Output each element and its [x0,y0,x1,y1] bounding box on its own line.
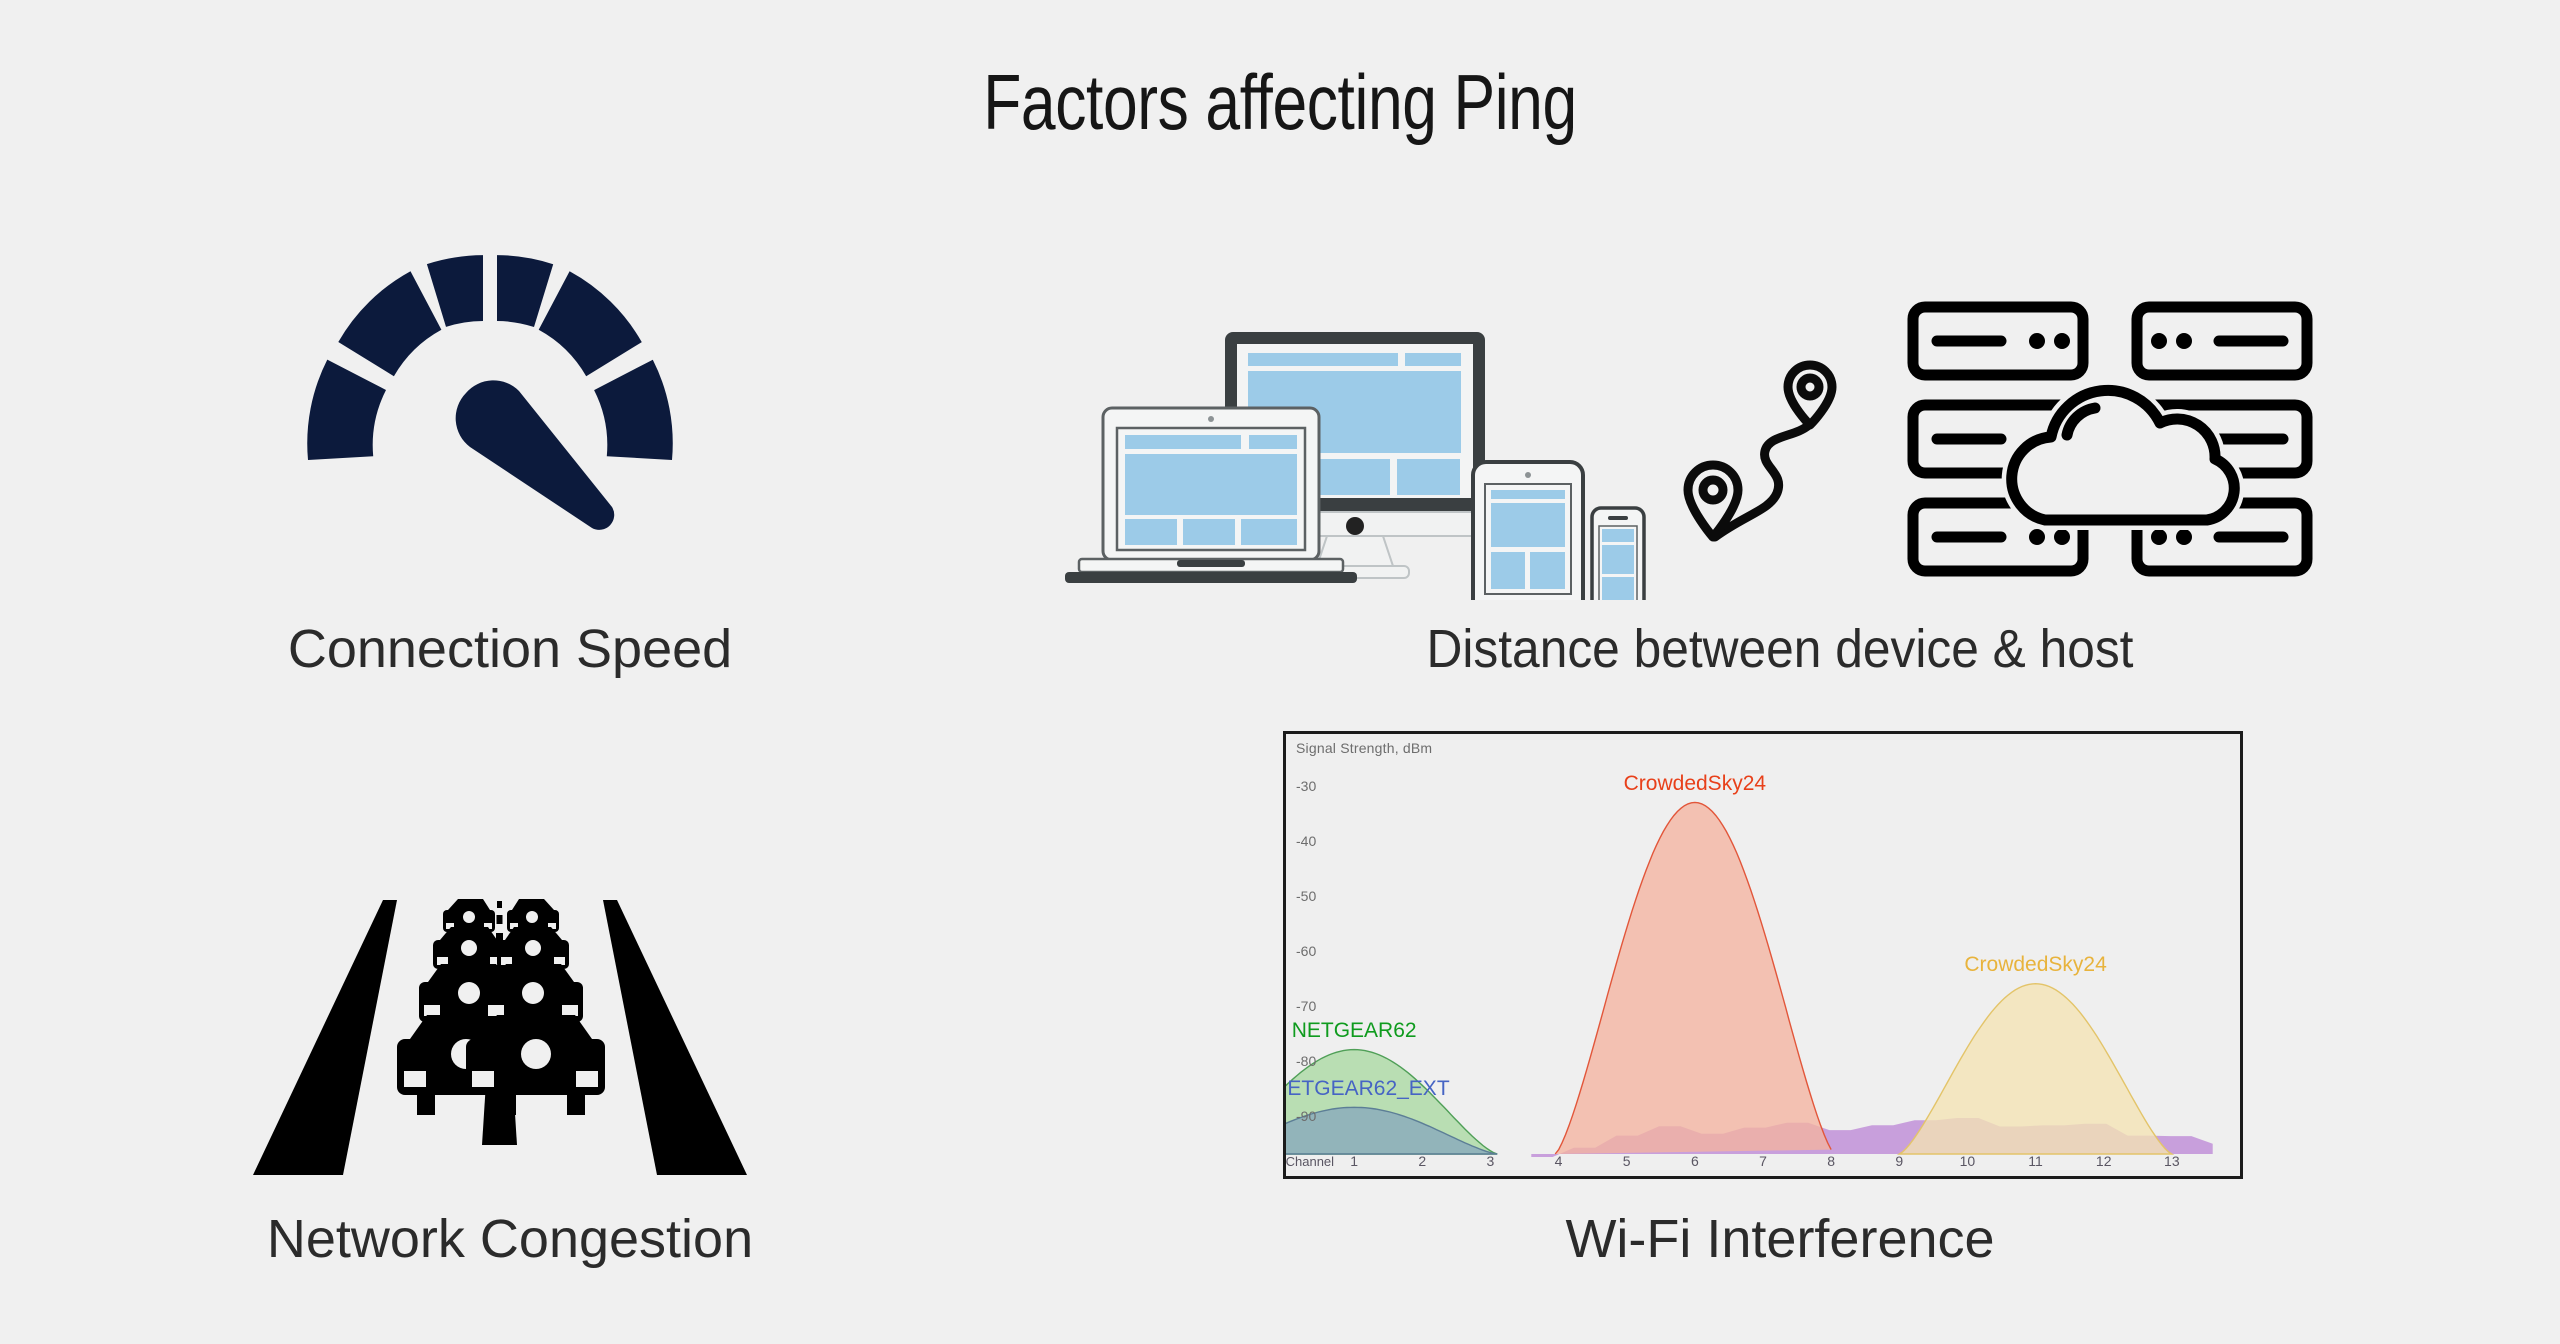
y-tick-label: -90 [1296,1108,1316,1124]
series-label-NETGEAR62: NETGEAR62 [1292,1019,1417,1043]
speedometer-icon [290,215,690,565]
x-tick-label: 5 [1623,1153,1631,1169]
x-tick-label: 2 [1418,1153,1426,1169]
y-tick-label: -80 [1296,1053,1316,1069]
wifi-spectrum-chart: Signal Strength, dBm -30-40-50-60-70-80-… [1283,731,2243,1179]
series-area-CrowdedSky24-11 [1899,984,2172,1154]
y-tick-label: -70 [1296,998,1316,1014]
route-pins-icon [1665,355,1855,545]
x-tick-label: 9 [1895,1153,1903,1169]
server-cloud-icon [1895,285,2325,595]
x-tick-label: 12 [2096,1153,2112,1169]
x-tick-label: 4 [1555,1153,1563,1169]
y-tick-label: -30 [1296,778,1316,794]
x-tick-label: 11 [2028,1153,2043,1169]
caption-wifi-interference: Wi-Fi Interference [1060,1208,2500,1270]
x-tick-label: 8 [1827,1153,1835,1169]
caption-connection-speed: Connection Speed [0,618,1020,680]
devices-icon [1065,320,1655,600]
x-tick-label: 6 [1691,1153,1699,1169]
page-title: Factors affecting Ping [256,62,2304,144]
x-tick-label: 10 [1960,1153,1976,1169]
series-label-NETGEAR62_EXT: NETGEAR62_EXT [1283,1077,1450,1101]
x-tick-label: 13 [2164,1153,2180,1169]
x-tick-label: 1 [1350,1153,1358,1169]
y-tick-label: -60 [1296,943,1316,959]
slide-canvas: Factors affecting Ping Connection Speed [0,0,2560,1344]
caption-distance: Distance between device & host [1118,618,2443,680]
series-label-CrowdedSky24-11: CrowdedSky24 [1964,953,2106,977]
y-tick-label: -50 [1296,888,1316,904]
y-tick-label: -40 [1296,833,1316,849]
caption-network-congestion: Network Congestion [0,1208,1020,1270]
chart-plot-area: Signal Strength, dBm -30-40-50-60-70-80-… [1286,734,2240,1176]
traffic-jam-icon [225,865,775,1180]
series-label-CrowdedSky24-6: CrowdedSky24 [1624,772,1766,796]
x-axis-title: Channel [1286,1154,1334,1169]
x-tick-label: 3 [1487,1153,1495,1169]
series-area-CrowdedSky24-6 [1555,802,1831,1154]
x-tick-label: 7 [1759,1153,1767,1169]
